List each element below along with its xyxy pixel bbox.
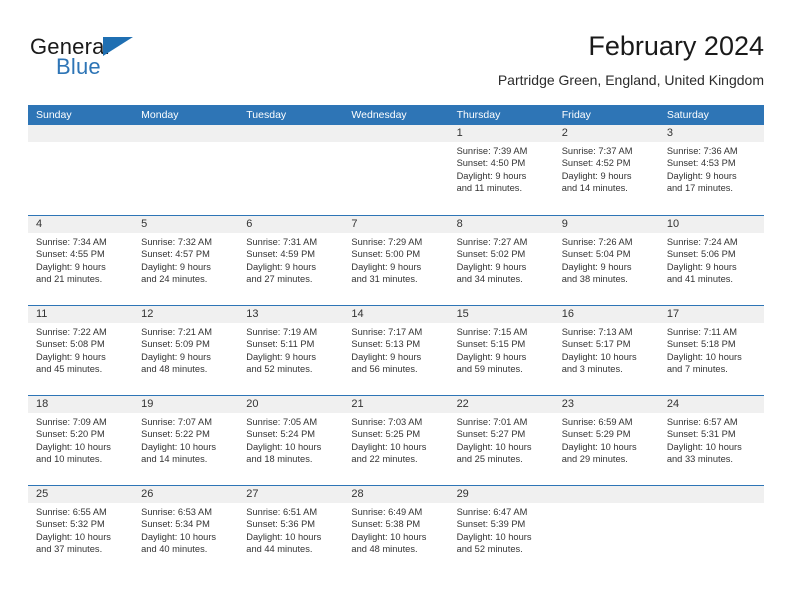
sunrise-time: Sunrise: 6:57 AM <box>667 416 758 428</box>
day-sun-info: Sunrise: 6:51 AMSunset: 5:36 PMDaylight:… <box>238 503 343 556</box>
calendar-day-cell[interactable]: 29Sunrise: 6:47 AMSunset: 5:39 PMDayligh… <box>449 486 554 575</box>
daylight-duration-line1: Daylight: 10 hours <box>457 441 548 453</box>
generalblue-logo: General Blue <box>28 34 228 90</box>
sunrise-time: Sunrise: 7:17 AM <box>351 326 442 338</box>
sunrise-time: Sunrise: 7:11 AM <box>667 326 758 338</box>
day-number-band: 20 <box>238 396 343 413</box>
calendar-day-cell[interactable]: 24Sunrise: 6:57 AMSunset: 5:31 PMDayligh… <box>659 396 764 485</box>
calendar-day-cell[interactable]: 11Sunrise: 7:22 AMSunset: 5:08 PMDayligh… <box>28 306 133 395</box>
daylight-duration-line1: Daylight: 10 hours <box>667 351 758 363</box>
calendar-week-row: 1Sunrise: 7:39 AMSunset: 4:50 PMDaylight… <box>28 125 764 215</box>
daylight-duration-line2: and 44 minutes. <box>246 543 337 555</box>
calendar-week-row: 25Sunrise: 6:55 AMSunset: 5:32 PMDayligh… <box>28 485 764 575</box>
day-number: 29 <box>449 486 554 503</box>
day-number: 24 <box>659 396 764 413</box>
sunset-time: Sunset: 5:24 PM <box>246 428 337 440</box>
sunset-time: Sunset: 5:31 PM <box>667 428 758 440</box>
sunrise-time: Sunrise: 6:53 AM <box>141 506 232 518</box>
sunset-time: Sunset: 5:39 PM <box>457 518 548 530</box>
day-number: 27 <box>238 486 343 503</box>
day-number-band: 13 <box>238 306 343 323</box>
daylight-duration-line2: and 3 minutes. <box>562 363 653 375</box>
day-number: 18 <box>28 396 133 413</box>
day-number: 8 <box>449 216 554 233</box>
sunrise-time: Sunrise: 7:27 AM <box>457 236 548 248</box>
day-number: 6 <box>238 216 343 233</box>
sunrise-time: Sunrise: 7:24 AM <box>667 236 758 248</box>
sunset-time: Sunset: 5:17 PM <box>562 338 653 350</box>
sunset-time: Sunset: 5:06 PM <box>667 248 758 260</box>
daylight-duration-line2: and 11 minutes. <box>457 182 548 194</box>
daylight-duration-line2: and 18 minutes. <box>246 453 337 465</box>
day-sun-info: Sunrise: 7:21 AMSunset: 5:09 PMDaylight:… <box>133 323 238 376</box>
sunrise-time: Sunrise: 6:49 AM <box>351 506 442 518</box>
day-number-band: 6 <box>238 216 343 233</box>
weekday-header-wednesday: Wednesday <box>343 105 448 125</box>
day-sun-info: Sunrise: 7:19 AMSunset: 5:11 PMDaylight:… <box>238 323 343 376</box>
daylight-duration-line2: and 17 minutes. <box>667 182 758 194</box>
day-number: 26 <box>133 486 238 503</box>
day-sun-info: Sunrise: 6:49 AMSunset: 5:38 PMDaylight:… <box>343 503 448 556</box>
daylight-duration-line2: and 25 minutes. <box>457 453 548 465</box>
calendar-day-cell[interactable]: 8Sunrise: 7:27 AMSunset: 5:02 PMDaylight… <box>449 216 554 305</box>
daylight-duration-line2: and 48 minutes. <box>141 363 232 375</box>
weekday-header-thursday: Thursday <box>449 105 554 125</box>
day-sun-info: Sunrise: 7:32 AMSunset: 4:57 PMDaylight:… <box>133 233 238 286</box>
sunset-time: Sunset: 4:57 PM <box>141 248 232 260</box>
sunrise-time: Sunrise: 6:51 AM <box>246 506 337 518</box>
day-number: 1 <box>449 125 554 142</box>
page-header: General Blue February 2024 Partridge Gre… <box>28 30 764 102</box>
day-number: 19 <box>133 396 238 413</box>
daylight-duration-line1: Daylight: 9 hours <box>351 261 442 273</box>
logo-text-blue: Blue <box>56 54 101 80</box>
day-number-band: 28 <box>343 486 448 503</box>
day-number-band: 22 <box>449 396 554 413</box>
daylight-duration-line2: and 7 minutes. <box>667 363 758 375</box>
calendar-day-cell-empty <box>238 125 343 215</box>
calendar-grid: Sunday Monday Tuesday Wednesday Thursday… <box>28 105 764 575</box>
day-sun-info: Sunrise: 7:05 AMSunset: 5:24 PMDaylight:… <box>238 413 343 466</box>
daylight-duration-line2: and 14 minutes. <box>562 182 653 194</box>
day-number: 5 <box>133 216 238 233</box>
day-number-band: 5 <box>133 216 238 233</box>
calendar-day-cell[interactable]: 6Sunrise: 7:31 AMSunset: 4:59 PMDaylight… <box>238 216 343 305</box>
day-number-band: 3 <box>659 125 764 142</box>
daylight-duration-line1: Daylight: 9 hours <box>36 351 127 363</box>
day-number: 14 <box>343 306 448 323</box>
daylight-duration-line2: and 40 minutes. <box>141 543 232 555</box>
day-number: 22 <box>449 396 554 413</box>
day-sun-info: Sunrise: 7:31 AMSunset: 4:59 PMDaylight:… <box>238 233 343 286</box>
day-number-band: 25 <box>28 486 133 503</box>
day-number: 7 <box>343 216 448 233</box>
day-sun-info: Sunrise: 7:03 AMSunset: 5:25 PMDaylight:… <box>343 413 448 466</box>
calendar-day-cell-empty <box>659 486 764 575</box>
day-sun-info: Sunrise: 6:57 AMSunset: 5:31 PMDaylight:… <box>659 413 764 466</box>
daylight-duration-line1: Daylight: 10 hours <box>351 531 442 543</box>
day-sun-info: Sunrise: 7:22 AMSunset: 5:08 PMDaylight:… <box>28 323 133 376</box>
daylight-duration-line2: and 52 minutes. <box>457 543 548 555</box>
day-number-band: 2 <box>554 125 659 142</box>
sunset-time: Sunset: 4:50 PM <box>457 157 548 169</box>
sunrise-time: Sunrise: 7:03 AM <box>351 416 442 428</box>
sunrise-time: Sunrise: 7:09 AM <box>36 416 127 428</box>
weekday-header-monday: Monday <box>133 105 238 125</box>
calendar-day-cell-empty <box>554 486 659 575</box>
daylight-duration-line1: Daylight: 9 hours <box>457 261 548 273</box>
daylight-duration-line2: and 21 minutes. <box>36 273 127 285</box>
day-sun-info: Sunrise: 7:34 AMSunset: 4:55 PMDaylight:… <box>28 233 133 286</box>
day-number-band: 11 <box>28 306 133 323</box>
page-title: February 2024 <box>498 30 764 62</box>
calendar-day-cell[interactable]: 10Sunrise: 7:24 AMSunset: 5:06 PMDayligh… <box>659 216 764 305</box>
sunrise-time: Sunrise: 7:26 AM <box>562 236 653 248</box>
calendar-week-row: 18Sunrise: 7:09 AMSunset: 5:20 PMDayligh… <box>28 395 764 485</box>
daylight-duration-line2: and 29 minutes. <box>562 453 653 465</box>
day-sun-info: Sunrise: 7:24 AMSunset: 5:06 PMDaylight:… <box>659 233 764 286</box>
day-number-band <box>238 125 343 142</box>
sunrise-time: Sunrise: 7:37 AM <box>562 145 653 157</box>
day-number: 2 <box>554 125 659 142</box>
daylight-duration-line1: Daylight: 10 hours <box>36 441 127 453</box>
sunset-time: Sunset: 4:52 PM <box>562 157 653 169</box>
calendar-day-cell[interactable]: 13Sunrise: 7:19 AMSunset: 5:11 PMDayligh… <box>238 306 343 395</box>
sunrise-time: Sunrise: 7:21 AM <box>141 326 232 338</box>
day-sun-info: Sunrise: 7:07 AMSunset: 5:22 PMDaylight:… <box>133 413 238 466</box>
day-sun-info: Sunrise: 7:27 AMSunset: 5:02 PMDaylight:… <box>449 233 554 286</box>
sunset-time: Sunset: 5:27 PM <box>457 428 548 440</box>
daylight-duration-line1: Daylight: 9 hours <box>562 170 653 182</box>
sunset-time: Sunset: 5:36 PM <box>246 518 337 530</box>
calendar-day-cell-empty <box>133 125 238 215</box>
sunset-time: Sunset: 5:22 PM <box>141 428 232 440</box>
day-number: 21 <box>343 396 448 413</box>
day-sun-info: Sunrise: 6:55 AMSunset: 5:32 PMDaylight:… <box>28 503 133 556</box>
sunset-time: Sunset: 5:32 PM <box>36 518 127 530</box>
weekday-header-friday: Friday <box>554 105 659 125</box>
daylight-duration-line1: Daylight: 10 hours <box>141 531 232 543</box>
day-sun-info: Sunrise: 7:29 AMSunset: 5:00 PMDaylight:… <box>343 233 448 286</box>
day-number-band: 14 <box>343 306 448 323</box>
sunset-time: Sunset: 5:29 PM <box>562 428 653 440</box>
sunrise-time: Sunrise: 7:13 AM <box>562 326 653 338</box>
calendar-week-row: 11Sunrise: 7:22 AMSunset: 5:08 PMDayligh… <box>28 305 764 395</box>
day-number: 20 <box>238 396 343 413</box>
day-number: 13 <box>238 306 343 323</box>
day-sun-info: Sunrise: 7:36 AMSunset: 4:53 PMDaylight:… <box>659 142 764 195</box>
day-sun-info: Sunrise: 6:47 AMSunset: 5:39 PMDaylight:… <box>449 503 554 556</box>
day-number-band: 27 <box>238 486 343 503</box>
calendar-page: General Blue February 2024 Partridge Gre… <box>0 0 792 612</box>
sunset-time: Sunset: 5:38 PM <box>351 518 442 530</box>
calendar-day-cell[interactable]: 16Sunrise: 7:13 AMSunset: 5:17 PMDayligh… <box>554 306 659 395</box>
calendar-day-cell[interactable]: 28Sunrise: 6:49 AMSunset: 5:38 PMDayligh… <box>343 486 448 575</box>
daylight-duration-line1: Daylight: 10 hours <box>246 441 337 453</box>
day-number-band: 24 <box>659 396 764 413</box>
day-number-band: 17 <box>659 306 764 323</box>
title-block: February 2024 Partridge Green, England, … <box>498 30 764 90</box>
daylight-duration-line1: Daylight: 9 hours <box>36 261 127 273</box>
day-number-band: 12 <box>133 306 238 323</box>
day-number: 10 <box>659 216 764 233</box>
day-number-band <box>28 125 133 142</box>
calendar-day-cell[interactable]: 25Sunrise: 6:55 AMSunset: 5:32 PMDayligh… <box>28 486 133 575</box>
day-number-band: 7 <box>343 216 448 233</box>
daylight-duration-line1: Daylight: 10 hours <box>36 531 127 543</box>
sunset-time: Sunset: 5:04 PM <box>562 248 653 260</box>
sunrise-time: Sunrise: 7:19 AM <box>246 326 337 338</box>
day-sun-info: Sunrise: 7:15 AMSunset: 5:15 PMDaylight:… <box>449 323 554 376</box>
sunrise-time: Sunrise: 7:22 AM <box>36 326 127 338</box>
day-number: 4 <box>28 216 133 233</box>
triangle-icon <box>103 37 133 56</box>
daylight-duration-line2: and 45 minutes. <box>36 363 127 375</box>
daylight-duration-line1: Daylight: 10 hours <box>457 531 548 543</box>
daylight-duration-line1: Daylight: 9 hours <box>351 351 442 363</box>
daylight-duration-line1: Daylight: 9 hours <box>457 170 548 182</box>
calendar-day-cell[interactable]: 12Sunrise: 7:21 AMSunset: 5:09 PMDayligh… <box>133 306 238 395</box>
day-number-band: 16 <box>554 306 659 323</box>
calendar-day-cell[interactable]: 20Sunrise: 7:05 AMSunset: 5:24 PMDayligh… <box>238 396 343 485</box>
day-number-band: 4 <box>28 216 133 233</box>
day-sun-info: Sunrise: 7:17 AMSunset: 5:13 PMDaylight:… <box>343 323 448 376</box>
daylight-duration-line2: and 14 minutes. <box>141 453 232 465</box>
day-sun-info: Sunrise: 6:59 AMSunset: 5:29 PMDaylight:… <box>554 413 659 466</box>
daylight-duration-line1: Daylight: 9 hours <box>667 170 758 182</box>
daylight-duration-line2: and 33 minutes. <box>667 453 758 465</box>
day-number-band: 9 <box>554 216 659 233</box>
sunrise-time: Sunrise: 7:36 AM <box>667 145 758 157</box>
daylight-duration-line1: Daylight: 10 hours <box>562 351 653 363</box>
calendar-day-cell[interactable]: 15Sunrise: 7:15 AMSunset: 5:15 PMDayligh… <box>449 306 554 395</box>
sunrise-time: Sunrise: 6:59 AM <box>562 416 653 428</box>
sunrise-time: Sunrise: 7:32 AM <box>141 236 232 248</box>
calendar-weeks: 1Sunrise: 7:39 AMSunset: 4:50 PMDaylight… <box>28 125 764 575</box>
weekday-header-sunday: Sunday <box>28 105 133 125</box>
sunset-time: Sunset: 5:34 PM <box>141 518 232 530</box>
sunset-time: Sunset: 5:00 PM <box>351 248 442 260</box>
calendar-day-cell[interactable]: 3Sunrise: 7:36 AMSunset: 4:53 PMDaylight… <box>659 125 764 215</box>
day-number-band: 21 <box>343 396 448 413</box>
day-number: 23 <box>554 396 659 413</box>
day-number: 16 <box>554 306 659 323</box>
sunset-time: Sunset: 5:13 PM <box>351 338 442 350</box>
day-number: 9 <box>554 216 659 233</box>
daylight-duration-line2: and 34 minutes. <box>457 273 548 285</box>
day-number: 11 <box>28 306 133 323</box>
day-number-band <box>133 125 238 142</box>
sunrise-time: Sunrise: 7:34 AM <box>36 236 127 248</box>
daylight-duration-line1: Daylight: 10 hours <box>141 441 232 453</box>
day-sun-info: Sunrise: 7:13 AMSunset: 5:17 PMDaylight:… <box>554 323 659 376</box>
calendar-day-cell[interactable]: 22Sunrise: 7:01 AMSunset: 5:27 PMDayligh… <box>449 396 554 485</box>
daylight-duration-line1: Daylight: 10 hours <box>246 531 337 543</box>
day-number: 15 <box>449 306 554 323</box>
day-number-band: 15 <box>449 306 554 323</box>
sunset-time: Sunset: 5:11 PM <box>246 338 337 350</box>
calendar-day-cell[interactable]: 7Sunrise: 7:29 AMSunset: 5:00 PMDaylight… <box>343 216 448 305</box>
calendar-day-cell[interactable]: 4Sunrise: 7:34 AMSunset: 4:55 PMDaylight… <box>28 216 133 305</box>
day-sun-info: Sunrise: 7:37 AMSunset: 4:52 PMDaylight:… <box>554 142 659 195</box>
weekday-header-row: Sunday Monday Tuesday Wednesday Thursday… <box>28 105 764 125</box>
calendar-day-cell[interactable]: 9Sunrise: 7:26 AMSunset: 5:04 PMDaylight… <box>554 216 659 305</box>
weekday-header-saturday: Saturday <box>659 105 764 125</box>
sunrise-time: Sunrise: 7:39 AM <box>457 145 548 157</box>
day-number-band <box>659 486 764 503</box>
day-number-band: 18 <box>28 396 133 413</box>
sunrise-time: Sunrise: 7:15 AM <box>457 326 548 338</box>
day-number: 28 <box>343 486 448 503</box>
day-number: 17 <box>659 306 764 323</box>
day-number-band: 23 <box>554 396 659 413</box>
day-number: 3 <box>659 125 764 142</box>
day-number-band: 1 <box>449 125 554 142</box>
sunset-time: Sunset: 5:09 PM <box>141 338 232 350</box>
weekday-header-tuesday: Tuesday <box>238 105 343 125</box>
sunrise-time: Sunrise: 6:55 AM <box>36 506 127 518</box>
sunrise-time: Sunrise: 7:05 AM <box>246 416 337 428</box>
day-sun-info: Sunrise: 7:09 AMSunset: 5:20 PMDaylight:… <box>28 413 133 466</box>
daylight-duration-line2: and 27 minutes. <box>246 273 337 285</box>
day-sun-info: Sunrise: 7:39 AMSunset: 4:50 PMDaylight:… <box>449 142 554 195</box>
sunrise-time: Sunrise: 7:07 AM <box>141 416 232 428</box>
sunset-time: Sunset: 5:08 PM <box>36 338 127 350</box>
day-sun-info: Sunrise: 7:26 AMSunset: 5:04 PMDaylight:… <box>554 233 659 286</box>
daylight-duration-line2: and 24 minutes. <box>141 273 232 285</box>
daylight-duration-line1: Daylight: 9 hours <box>562 261 653 273</box>
daylight-duration-line2: and 37 minutes. <box>36 543 127 555</box>
day-number-band: 19 <box>133 396 238 413</box>
calendar-day-cell-empty <box>343 125 448 215</box>
daylight-duration-line2: and 59 minutes. <box>457 363 548 375</box>
sunrise-time: Sunrise: 6:47 AM <box>457 506 548 518</box>
sunset-time: Sunset: 5:25 PM <box>351 428 442 440</box>
daylight-duration-line2: and 10 minutes. <box>36 453 127 465</box>
sunset-time: Sunset: 4:53 PM <box>667 157 758 169</box>
calendar-day-cell[interactable]: 21Sunrise: 7:03 AMSunset: 5:25 PMDayligh… <box>343 396 448 485</box>
calendar-day-cell[interactable]: 19Sunrise: 7:07 AMSunset: 5:22 PMDayligh… <box>133 396 238 485</box>
day-sun-info: Sunrise: 7:11 AMSunset: 5:18 PMDaylight:… <box>659 323 764 376</box>
calendar-day-cell[interactable]: 18Sunrise: 7:09 AMSunset: 5:20 PMDayligh… <box>28 396 133 485</box>
day-number-band: 26 <box>133 486 238 503</box>
sunset-time: Sunset: 5:20 PM <box>36 428 127 440</box>
daylight-duration-line2: and 38 minutes. <box>562 273 653 285</box>
daylight-duration-line2: and 31 minutes. <box>351 273 442 285</box>
daylight-duration-line2: and 41 minutes. <box>667 273 758 285</box>
daylight-duration-line1: Daylight: 10 hours <box>562 441 653 453</box>
daylight-duration-line1: Daylight: 9 hours <box>246 261 337 273</box>
calendar-day-cell[interactable]: 23Sunrise: 6:59 AMSunset: 5:29 PMDayligh… <box>554 396 659 485</box>
day-number-band: 29 <box>449 486 554 503</box>
day-number-band <box>343 125 448 142</box>
daylight-duration-line2: and 56 minutes. <box>351 363 442 375</box>
sunset-time: Sunset: 4:55 PM <box>36 248 127 260</box>
sunset-time: Sunset: 5:18 PM <box>667 338 758 350</box>
sunset-time: Sunset: 5:15 PM <box>457 338 548 350</box>
sunrise-time: Sunrise: 7:29 AM <box>351 236 442 248</box>
sunset-time: Sunset: 5:02 PM <box>457 248 548 260</box>
calendar-day-cell[interactable]: 26Sunrise: 6:53 AMSunset: 5:34 PMDayligh… <box>133 486 238 575</box>
calendar-day-cell[interactable]: 27Sunrise: 6:51 AMSunset: 5:36 PMDayligh… <box>238 486 343 575</box>
daylight-duration-line1: Daylight: 9 hours <box>667 261 758 273</box>
daylight-duration-line1: Daylight: 9 hours <box>141 351 232 363</box>
daylight-duration-line1: Daylight: 9 hours <box>457 351 548 363</box>
calendar-day-cell[interactable]: 14Sunrise: 7:17 AMSunset: 5:13 PMDayligh… <box>343 306 448 395</box>
daylight-duration-line1: Daylight: 9 hours <box>141 261 232 273</box>
sunset-time: Sunset: 4:59 PM <box>246 248 337 260</box>
daylight-duration-line1: Daylight: 10 hours <box>351 441 442 453</box>
calendar-day-cell[interactable]: 17Sunrise: 7:11 AMSunset: 5:18 PMDayligh… <box>659 306 764 395</box>
daylight-duration-line2: and 52 minutes. <box>246 363 337 375</box>
day-number: 25 <box>28 486 133 503</box>
day-number: 12 <box>133 306 238 323</box>
day-number-band <box>554 486 659 503</box>
calendar-day-cell[interactable]: 1Sunrise: 7:39 AMSunset: 4:50 PMDaylight… <box>449 125 554 215</box>
calendar-day-cell-empty <box>28 125 133 215</box>
day-sun-info: Sunrise: 6:53 AMSunset: 5:34 PMDaylight:… <box>133 503 238 556</box>
day-number-band: 10 <box>659 216 764 233</box>
page-subtitle: Partridge Green, England, United Kingdom <box>498 70 764 90</box>
calendar-day-cell[interactable]: 2Sunrise: 7:37 AMSunset: 4:52 PMDaylight… <box>554 125 659 215</box>
day-sun-info: Sunrise: 7:01 AMSunset: 5:27 PMDaylight:… <box>449 413 554 466</box>
day-number-band: 8 <box>449 216 554 233</box>
sunrise-time: Sunrise: 7:31 AM <box>246 236 337 248</box>
daylight-duration-line2: and 48 minutes. <box>351 543 442 555</box>
calendar-day-cell[interactable]: 5Sunrise: 7:32 AMSunset: 4:57 PMDaylight… <box>133 216 238 305</box>
calendar-week-row: 4Sunrise: 7:34 AMSunset: 4:55 PMDaylight… <box>28 215 764 305</box>
daylight-duration-line1: Daylight: 9 hours <box>246 351 337 363</box>
sunrise-time: Sunrise: 7:01 AM <box>457 416 548 428</box>
daylight-duration-line1: Daylight: 10 hours <box>667 441 758 453</box>
daylight-duration-line2: and 22 minutes. <box>351 453 442 465</box>
